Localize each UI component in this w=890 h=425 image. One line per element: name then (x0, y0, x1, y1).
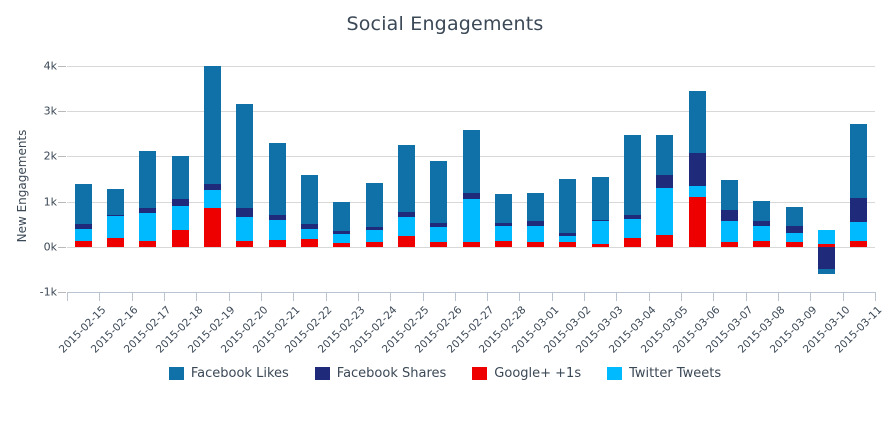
y-axis: New Engagements 4k3k2k1k0k-1k (0, 0, 67, 425)
bar-segment[interactable] (172, 156, 189, 198)
x-tick-mark (616, 292, 617, 301)
x-tick-mark (293, 292, 294, 301)
bar-segment[interactable] (139, 241, 156, 246)
bar-segment[interactable] (624, 219, 641, 238)
x-axis: 2015-02-152015-02-162015-02-172015-02-18… (67, 292, 875, 302)
bar-group[interactable] (818, 66, 835, 292)
bar-segment[interactable] (333, 234, 350, 243)
bar-group[interactable] (624, 66, 641, 292)
bar-segment[interactable] (818, 247, 835, 269)
bar-segment[interactable] (107, 238, 124, 247)
legend-item[interactable]: Twitter Tweets (607, 366, 721, 381)
bar-group[interactable] (333, 66, 350, 292)
bar-segment[interactable] (301, 224, 318, 229)
bar-segment[interactable] (333, 202, 350, 231)
x-tick-mark (778, 292, 779, 301)
y-tick-mark (58, 156, 66, 157)
x-tick-mark (423, 292, 424, 301)
y-tick-mark (58, 292, 66, 293)
bar-segment[interactable] (721, 210, 738, 221)
bar-group[interactable] (398, 66, 415, 292)
bar-segment[interactable] (689, 197, 706, 247)
bar-segment[interactable] (172, 230, 189, 247)
legend-label: Google+ +1s (494, 366, 581, 381)
bar-segment[interactable] (398, 236, 415, 246)
bar-group[interactable] (107, 66, 124, 292)
bar-segment[interactable] (75, 224, 92, 229)
bar-segment[interactable] (139, 151, 156, 208)
bar-segment[interactable] (204, 190, 221, 208)
bar-segment[interactable] (527, 221, 544, 226)
x-tick-mark (164, 292, 165, 301)
bar-segment[interactable] (495, 223, 512, 226)
legend-item[interactable]: Facebook Likes (169, 366, 289, 381)
bar-segment[interactable] (786, 242, 803, 247)
bar-segment[interactable] (269, 220, 286, 240)
bar-segment[interactable] (236, 241, 253, 247)
legend-label: Facebook Shares (337, 366, 447, 381)
bar-segment[interactable] (495, 226, 512, 241)
x-tick-mark (810, 292, 811, 301)
x-tick-mark (67, 292, 68, 301)
y-axis-title: New Engagements (15, 86, 29, 286)
bar-group[interactable] (656, 66, 673, 292)
bar-segment[interactable] (236, 217, 253, 241)
x-tick-mark (519, 292, 520, 301)
bar-segment[interactable] (430, 161, 447, 222)
bar-group[interactable] (366, 66, 383, 292)
bar-segment[interactable] (107, 215, 124, 216)
bar-segment[interactable] (753, 201, 770, 220)
bar-segment[interactable] (656, 235, 673, 247)
y-tick-label: 4k (44, 60, 57, 73)
bar-segment[interactable] (172, 199, 189, 206)
x-tick-mark (132, 292, 133, 301)
bar-segment[interactable] (366, 242, 383, 247)
bar-segment[interactable] (527, 193, 544, 221)
y-tick-label: 2k (44, 150, 57, 163)
bar-segment[interactable] (656, 188, 673, 235)
bar-segment[interactable] (463, 193, 480, 199)
y-tick-mark (58, 202, 66, 203)
bar-group[interactable] (559, 66, 576, 292)
bar-segment[interactable] (236, 104, 253, 208)
bar-segment[interactable] (592, 244, 609, 247)
bar-segment[interactable] (592, 221, 609, 243)
bar-segment[interactable] (269, 143, 286, 215)
bar-group[interactable] (850, 66, 867, 292)
bar-segment[interactable] (75, 229, 92, 242)
x-axis-line (67, 292, 875, 293)
bar-segment[interactable] (786, 207, 803, 226)
bar-segment[interactable] (366, 227, 383, 230)
bar-segment[interactable] (786, 226, 803, 233)
bar-segment[interactable] (721, 180, 738, 209)
bar-segment[interactable] (527, 226, 544, 242)
bar-group[interactable] (430, 66, 447, 292)
bar-segment[interactable] (301, 239, 318, 247)
x-tick-mark (326, 292, 327, 301)
bar-segment[interactable] (301, 175, 318, 224)
x-tick-mark (358, 292, 359, 301)
chart-legend: Facebook LikesFacebook SharesGoogle+ +1s… (0, 366, 890, 381)
bar-segment[interactable] (818, 230, 835, 244)
y-tick-mark (58, 111, 66, 112)
bar-group[interactable] (204, 66, 221, 292)
bar-segment[interactable] (366, 183, 383, 227)
bar-segment[interactable] (624, 135, 641, 215)
bar-segment[interactable] (139, 208, 156, 213)
bar-segment[interactable] (753, 226, 770, 242)
bar-segment[interactable] (75, 241, 92, 246)
bar-segment[interactable] (398, 217, 415, 236)
plot-area (67, 66, 875, 292)
bar-segment[interactable] (656, 175, 673, 188)
bar-segment[interactable] (786, 233, 803, 242)
bar-group[interactable] (786, 66, 803, 292)
x-tick-mark (487, 292, 488, 301)
bar-group[interactable] (753, 66, 770, 292)
bar-segment[interactable] (559, 242, 576, 247)
legend-label: Facebook Likes (191, 366, 289, 381)
bar-segment[interactable] (721, 221, 738, 242)
legend-swatch-facebook-shares (315, 367, 330, 380)
legend-swatch-google-plus (472, 367, 487, 380)
bar-segment[interactable] (495, 241, 512, 246)
bar-segment[interactable] (689, 186, 706, 197)
bar-group[interactable] (75, 66, 92, 292)
x-tick-mark (681, 292, 682, 301)
bar-segment[interactable] (624, 238, 641, 247)
bar-segment[interactable] (818, 269, 835, 274)
bar-segment[interactable] (753, 241, 770, 246)
x-tick-mark (649, 292, 650, 301)
bar-segment[interactable] (689, 153, 706, 186)
bar-group[interactable] (689, 66, 706, 292)
bar-group[interactable] (236, 66, 253, 292)
x-tick-mark (455, 292, 456, 301)
bar-segment[interactable] (430, 242, 447, 247)
bar-segment[interactable] (850, 124, 867, 197)
bar-segment[interactable] (366, 230, 383, 242)
x-tick-mark (229, 292, 230, 301)
legend-swatch-twitter-tweets (607, 367, 622, 380)
legend-item[interactable]: Facebook Shares (315, 366, 447, 381)
bar-segment[interactable] (139, 213, 156, 241)
x-tick-mark (875, 292, 876, 301)
bar-segment[interactable] (398, 212, 415, 217)
bar-segment[interactable] (107, 216, 124, 238)
x-tick-mark (713, 292, 714, 301)
y-tick-label: -1k (40, 286, 57, 299)
x-tick-mark (99, 292, 100, 301)
bar-segment[interactable] (592, 177, 609, 219)
chart-container: Social Engagements New Engagements 4k3k2… (0, 0, 890, 425)
bar-segment[interactable] (463, 130, 480, 193)
bar-segment[interactable] (850, 198, 867, 222)
bar-segment[interactable] (107, 189, 124, 215)
legend-swatch-facebook-likes (169, 367, 184, 380)
bar-segment[interactable] (204, 208, 221, 247)
bar-segment[interactable] (269, 240, 286, 247)
y-tick-mark (58, 66, 66, 67)
chart-title: Social Engagements (0, 13, 890, 35)
bar-segment[interactable] (172, 206, 189, 230)
bar-segment[interactable] (333, 231, 350, 234)
legend-item[interactable]: Google+ +1s (472, 366, 581, 381)
bar-group[interactable] (592, 66, 609, 292)
bar-segment[interactable] (592, 220, 609, 222)
bar-group[interactable] (463, 66, 480, 292)
bar-group[interactable] (269, 66, 286, 292)
y-tick-label: 3k (44, 105, 57, 118)
x-tick-mark (584, 292, 585, 301)
bar-group[interactable] (495, 66, 512, 292)
y-tick-mark (58, 247, 66, 248)
bar-segment[interactable] (559, 179, 576, 233)
bar-segment[interactable] (398, 145, 415, 212)
bar-segment[interactable] (850, 222, 867, 241)
bar-group[interactable] (527, 66, 544, 292)
bar-segment[interactable] (236, 208, 253, 216)
x-tick-mark (261, 292, 262, 301)
bar-segment[interactable] (204, 66, 221, 184)
x-tick-mark (843, 292, 844, 301)
bar-segment[interactable] (559, 233, 576, 236)
bar-group[interactable] (721, 66, 738, 292)
bar-segment[interactable] (753, 221, 770, 226)
x-tick-mark (390, 292, 391, 301)
bar-segment[interactable] (301, 229, 318, 239)
bar-segment[interactable] (333, 243, 350, 247)
bar-segment[interactable] (495, 194, 512, 222)
bar-segment[interactable] (463, 242, 480, 247)
legend-label: Twitter Tweets (629, 366, 721, 381)
bar-group[interactable] (301, 66, 318, 292)
bar-segment[interactable] (850, 241, 867, 246)
bar-group[interactable] (139, 66, 156, 292)
bar-segment[interactable] (527, 242, 544, 247)
bar-group[interactable] (172, 66, 189, 292)
bar-segment[interactable] (204, 184, 221, 190)
x-tick-mark (552, 292, 553, 301)
bar-segment[interactable] (721, 242, 738, 247)
bar-segment[interactable] (269, 215, 286, 220)
y-tick-label: 0k (44, 240, 57, 253)
bar-segment[interactable] (463, 199, 480, 242)
y-tick-label: 1k (44, 195, 57, 208)
x-tick-mark (196, 292, 197, 301)
bar-segment[interactable] (430, 223, 447, 228)
bar-segment[interactable] (430, 227, 447, 241)
bar-segment[interactable] (559, 236, 576, 241)
x-tick-mark (746, 292, 747, 301)
bar-segment[interactable] (75, 184, 92, 224)
bar-segment[interactable] (624, 215, 641, 220)
bar-segment[interactable] (656, 135, 673, 175)
bar-segment[interactable] (689, 91, 706, 153)
